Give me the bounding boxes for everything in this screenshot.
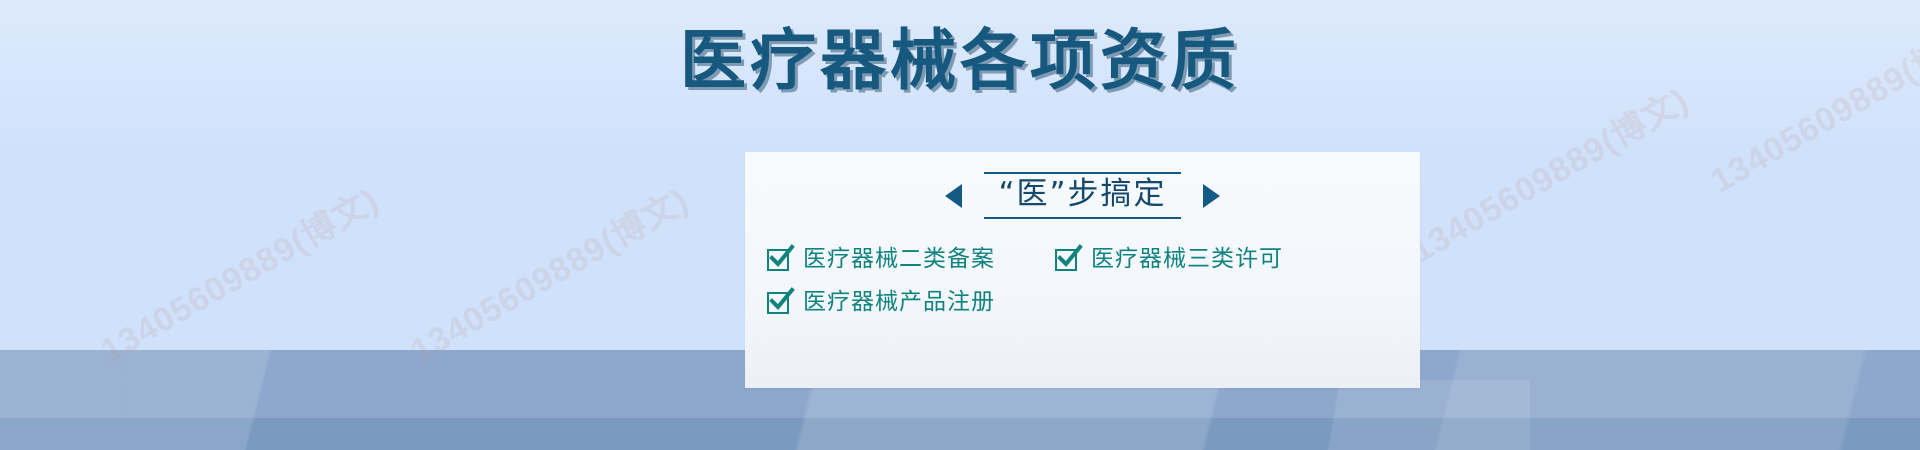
card-heading-text: “医”步搞定	[998, 176, 1166, 212]
heading-rule-top	[984, 172, 1180, 174]
heading-rule-bottom	[984, 217, 1180, 219]
card-heading-row: “医”步搞定	[745, 172, 1420, 219]
list-item: 医疗器械产品注册	[767, 291, 1055, 314]
list-item: 医疗器械三类许可	[1055, 248, 1283, 271]
card-heading-framed: “医”步搞定	[984, 172, 1180, 219]
checklist-row: 医疗器械产品注册	[767, 291, 1407, 314]
triangle-left-icon	[945, 184, 962, 208]
checklist-item-label: 医疗器械三类许可	[1091, 248, 1283, 271]
checklist-item-label: 医疗器械产品注册	[803, 291, 995, 314]
checklist-row: 医疗器械二类备案 医疗器械三类许可	[767, 248, 1407, 271]
banner-title: 医疗器械各项资质	[0, 28, 1920, 94]
content-card: “医”步搞定 医疗器械二类备案 医疗器械三类许可	[745, 152, 1420, 388]
qualification-checklist: 医疗器械二类备案 医疗器械三类许可 医疗器械产品注册	[767, 248, 1407, 334]
banner-stage: 13405609889(博文) 13405609889(博文) 13405609…	[0, 0, 1920, 450]
background-floor-band-low	[0, 418, 1920, 450]
list-item: 医疗器械二类备案	[767, 248, 1055, 271]
triangle-right-icon	[1203, 184, 1220, 208]
checkbox-checked-icon	[767, 292, 789, 314]
checklist-item-label: 医疗器械二类备案	[803, 248, 995, 271]
checkbox-checked-icon	[767, 249, 789, 271]
checkbox-checked-icon	[1055, 249, 1077, 271]
